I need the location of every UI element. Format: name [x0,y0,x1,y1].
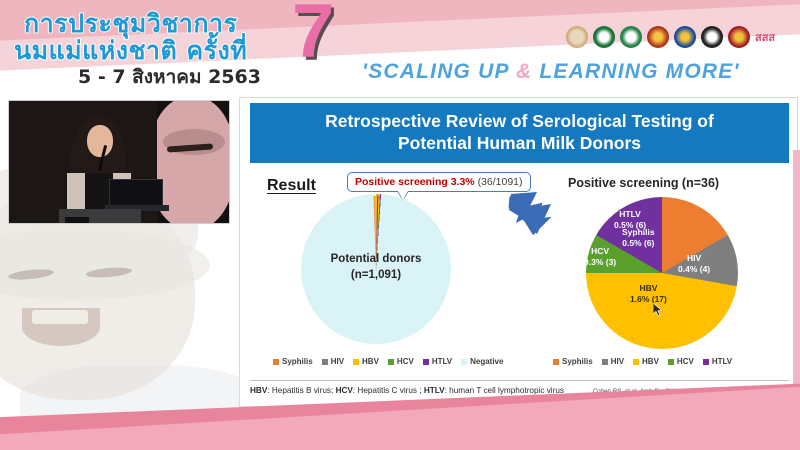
slice-label-hbv-name: HBV [630,283,667,294]
legend-swatch-negative [461,359,467,365]
legend-item-hiv: HIV [322,357,344,366]
slide-title-line2: Potential Human Milk Donors [398,133,641,155]
legend-item-negative: Negative [461,357,503,366]
legend2-swatch-hcv [668,359,674,365]
logo-emblem-7-icon [728,26,750,48]
banner-thai-date: 5 - 7 สิงหาคม 2563 [78,62,261,92]
slice-label-hiv-name: HIV [678,253,710,264]
legend-swatch-hbv [353,359,359,365]
legend2-item-hbv: HBV [633,357,659,366]
legend-item-htlv: HTLV [423,357,452,366]
slice-label-hcv-name: HCV [584,246,616,257]
abbreviation-note: HBV: Hepatitis B virus; HCV: Hepatitis C… [250,386,564,395]
legend2-label-hbv: HBV [642,357,659,366]
legend2-item-hiv: HIV [602,357,624,366]
legend2-swatch-htlv [703,359,709,365]
logo-emblem-4-icon [647,26,669,48]
abbrev-hbv-key: HBV [250,386,267,395]
presentation-slide: Retrospective Review of Serological Test… [239,97,798,407]
legend-swatch-hcv [388,359,394,365]
slice-label-htlv: HTLV 0.5% (6) [614,209,646,232]
legend-item-hbv: HBV [353,357,379,366]
presenter-video-panel[interactable] [8,100,230,224]
abbrev-htlv-key: HTLV [424,386,445,395]
legend-item-hcv: HCV [388,357,414,366]
donors-label-line1: Potential donors [301,252,451,268]
legend2-label-htlv: HTLV [712,357,732,366]
logo-emblem-6-icon [701,26,723,48]
abbrev-hcv-key: HCV [336,386,353,395]
legend2-swatch-hbv [633,359,639,365]
legend2-swatch-hiv [602,359,608,365]
legend2-label-hiv: HIV [611,357,624,366]
banner-edition-number: 7 [292,0,334,70]
abbrev-hbv-val: : Hepatitis B virus; [267,386,335,395]
blue-arrow-icon [507,190,559,238]
logo-emblem-1-icon [566,26,588,48]
right-pink-strip [793,150,800,410]
legend2-label-hcv: HCV [677,357,694,366]
logo-emblem-2-icon [593,26,615,48]
result-heading: Result [267,177,316,195]
legend2-swatch-syphilis [553,359,559,365]
sponsor-logo-text: สสส [755,28,775,46]
legend2-item-htlv: HTLV [703,357,732,366]
conference-banner: การประชุมวิชาการ นมแม่แห่งชาติ ครั้งที่ … [0,0,800,96]
legend-positive-screening: Syphilis HIV HBV HCV HTLV [553,357,732,366]
sponsor-logo-row: สสส [566,22,796,52]
banner-tagline: 'SCALING UP & LEARNING MORE' [362,60,740,84]
legend-label-negative: Negative [470,357,503,366]
slice-label-hiv-value: 0.4% (4) [678,264,710,275]
abbrev-hcv-val: : Hepatitis C virus ; [353,386,424,395]
legend-item-syphilis: Syphilis [273,357,313,366]
tagline-part1: 'SCALING UP [362,60,516,83]
logo-emblem-5-icon [674,26,696,48]
legend-label-hiv: HIV [331,357,344,366]
legend-label-hcv: HCV [397,357,414,366]
legend-swatch-htlv [423,359,429,365]
slide-title: Retrospective Review of Serological Test… [250,103,789,163]
legend-label-syphilis: Syphilis [282,357,313,366]
logo-emblem-3-icon [620,26,642,48]
slice-label-htlv-name: HTLV [614,209,646,220]
legend-potential-donors: Syphilis HIV HBV HCV HTLV Negative [273,357,503,366]
slice-label-hiv: HIV 0.4% (4) [678,253,710,276]
slice-label-hcv-value: 0.3% (3) [584,257,616,268]
positive-screening-callout: Positive screening 3.3% (36/1091) [347,172,531,192]
legend-swatch-hiv [322,359,328,365]
callout-percent: Positive screening 3.3% [355,176,475,188]
positive-screening-pie [586,197,738,349]
legend-label-htlv: HTLV [432,357,452,366]
tagline-ampersand: & [516,60,532,83]
slice-label-hcv: HCV 0.3% (3) [584,246,616,269]
legend2-label-syphilis: Syphilis [562,357,593,366]
callout-fraction: (36/1091) [478,176,523,188]
tagline-part2: LEARNING MORE' [532,60,739,83]
legend2-item-syphilis: Syphilis [553,357,593,366]
positive-screening-pie-title: Positive screening (n=36) [568,176,719,190]
mouse-cursor-icon [653,303,662,316]
slide-title-line1: Retrospective Review of Serological Test… [325,111,714,133]
legend-label-hbv: HBV [362,357,379,366]
donors-label-line2: (n=1,091) [301,268,451,284]
legend2-item-hcv: HCV [668,357,694,366]
legend-swatch-syphilis [273,359,279,365]
slice-label-syphilis-value: 0.5% (6) [622,238,655,249]
slice-label-htlv-value: 0.5% (6) [614,220,646,231]
screenshot-root: การประชุมวิชาการ นมแม่แห่งชาติ ครั้งที่ … [0,0,800,450]
potential-donors-center-label: Potential donors (n=1,091) [301,252,451,283]
